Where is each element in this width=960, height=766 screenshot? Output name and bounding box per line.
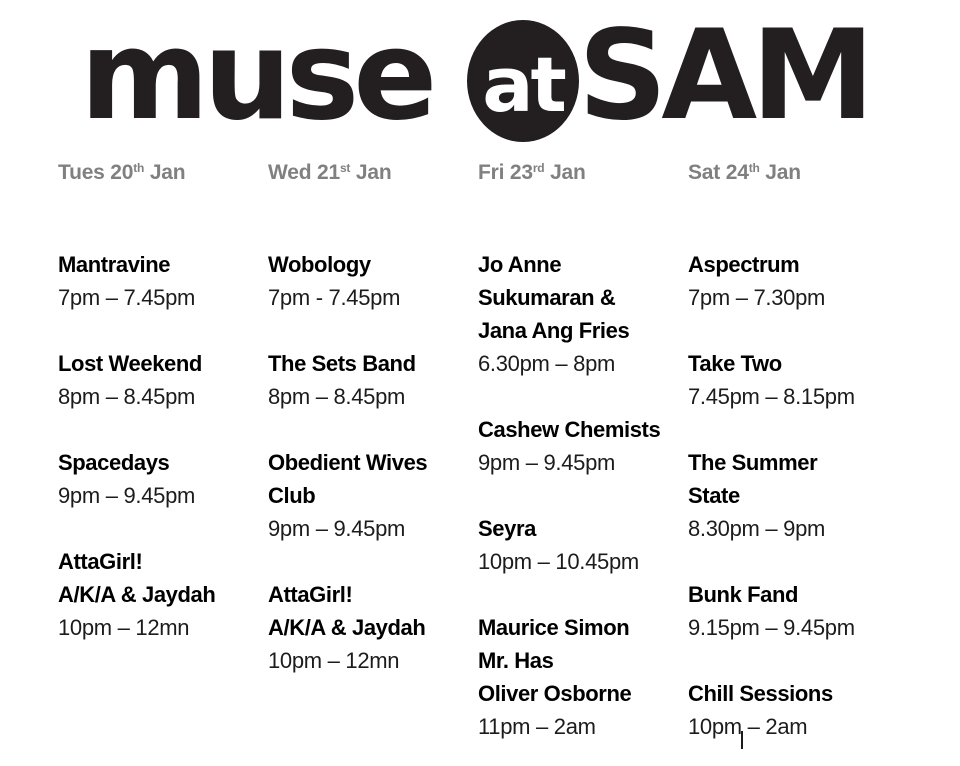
- logo-text-muse-label: muse: [80, 18, 432, 144]
- logo-at-badge: at: [467, 20, 579, 142]
- muse-at-sam-logo: muse at SAM: [80, 18, 880, 144]
- act-name: AttaGirl!: [58, 545, 273, 578]
- act-time: 9.15pm – 9.45pm: [688, 611, 903, 644]
- day-column-body: Mantravine7pm – 7.45pmLost Weekend8pm – …: [58, 186, 263, 766]
- day-column-body: Jo AnneSukumaran &Jana Ang Fries6.30pm –…: [478, 186, 683, 766]
- day-header-wed: Wed 21st Jan: [268, 160, 473, 186]
- act-name: Take Two: [688, 347, 903, 380]
- day-column-wed: Wed 21st JanWobology7pm - 7.45pmThe Sets…: [268, 160, 473, 766]
- act-time: 9pm – 9.45pm: [268, 512, 483, 545]
- act-time: 10pm – 10.45pm: [478, 545, 693, 578]
- day-header-ordinal: rd: [533, 161, 545, 175]
- day-header-ordinal: st: [340, 161, 350, 175]
- day-header-month: Jan: [544, 161, 585, 184]
- act-time: 6.30pm – 8pm: [478, 347, 693, 380]
- act-name: Spacedays: [58, 446, 273, 479]
- act-name: A/K/A & Jaydah: [268, 611, 483, 644]
- day-header-ordinal: th: [133, 161, 144, 175]
- day-column-tues: Tues 20th JanMantravine7pm – 7.45pmLost …: [58, 160, 263, 766]
- day-header-date: Wed 21: [268, 161, 340, 184]
- act-time: 7.45pm – 8.15pm: [688, 380, 903, 413]
- act-name: Seyra: [478, 512, 693, 545]
- logo-at-badge-label: at: [482, 40, 565, 129]
- act-time: 10pm – 12mn: [268, 644, 483, 677]
- act-name: Bunk Fand: [688, 578, 903, 611]
- act-time: 8pm – 8.45pm: [58, 380, 273, 413]
- act-name: Maurice Simon: [478, 611, 693, 644]
- act-name: Jana Ang Fries: [478, 314, 693, 347]
- page-edge-tick-mark: [741, 731, 743, 749]
- act-time: 9pm – 9.45pm: [58, 479, 273, 512]
- act-name: Obedient Wives: [268, 446, 483, 479]
- logo-banner: muse at SAM: [0, 18, 960, 144]
- act-name: AttaGirl!: [268, 578, 483, 611]
- logo-text-sam-label: SAM: [578, 18, 869, 144]
- act-time: 9pm – 9.45pm: [478, 446, 693, 479]
- day-column-body: Aspectrum7pm – 7.30pmTake Two7.45pm – 8.…: [688, 186, 893, 766]
- logo-text-muse: muse: [80, 18, 432, 144]
- act-name: Sukumaran &: [478, 281, 693, 314]
- day-header-fri: Fri 23rd Jan: [478, 160, 683, 186]
- day-header-ordinal: th: [749, 161, 760, 175]
- act-time: 8.30pm – 9pm: [688, 512, 903, 545]
- day-column-sat: Sat 24th JanAspectrum7pm – 7.30pmTake Tw…: [688, 160, 893, 766]
- act-name: Mr. Has: [478, 644, 693, 677]
- act-time: 7pm - 7.45pm: [268, 281, 483, 314]
- act-name: Chill Sessions: [688, 677, 903, 710]
- day-header-date: Sat 24: [688, 161, 749, 184]
- day-header-tues: Tues 20th Jan: [58, 160, 263, 186]
- day-column-body: Wobology7pm - 7.45pmThe Sets Band8pm – 8…: [268, 186, 473, 766]
- day-header-month: Jan: [144, 161, 185, 184]
- day-header-date: Fri 23: [478, 161, 533, 184]
- act-time: 7pm – 7.45pm: [58, 281, 273, 314]
- day-header-date: Tues 20: [58, 161, 133, 184]
- act-time: 8pm – 8.45pm: [268, 380, 483, 413]
- act-time: 11pm – 2am: [478, 710, 693, 743]
- act-name: A/K/A & Jaydah: [58, 578, 273, 611]
- act-name: The Summer: [688, 446, 903, 479]
- act-time: 10pm – 2am: [688, 710, 903, 743]
- day-column-fri: Fri 23rd JanJo AnneSukumaran &Jana Ang F…: [478, 160, 683, 766]
- day-header-month: Jan: [350, 161, 391, 184]
- act-name: Lost Weekend: [58, 347, 273, 380]
- act-name: Club: [268, 479, 483, 512]
- act-time: 10pm – 12mn: [58, 611, 273, 644]
- act-name: State: [688, 479, 903, 512]
- act-time: 7pm – 7.30pm: [688, 281, 903, 314]
- act-name: The Sets Band: [268, 347, 483, 380]
- act-name: Mantravine: [58, 248, 273, 281]
- act-name: Oliver Osborne: [478, 677, 693, 710]
- act-name: Aspectrum: [688, 248, 903, 281]
- day-header-month: Jan: [760, 161, 801, 184]
- act-name: Wobology: [268, 248, 483, 281]
- day-header-sat: Sat 24th Jan: [688, 160, 893, 186]
- logo-text-sam: SAM: [578, 18, 869, 144]
- act-name: Jo Anne: [478, 248, 693, 281]
- act-name: Cashew Chemists: [478, 413, 693, 446]
